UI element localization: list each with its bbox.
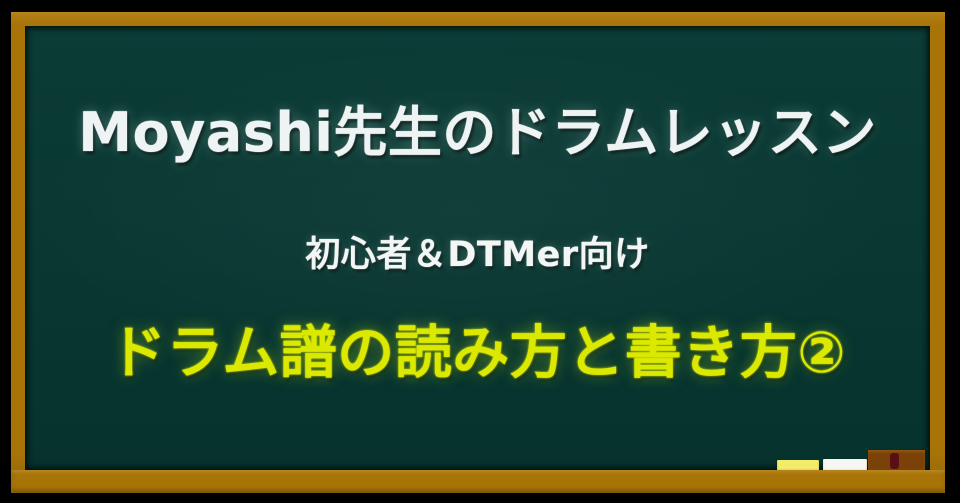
- audience-subtitle: 初心者＆DTMer向け: [25, 234, 930, 276]
- series-title: Moyashi先生のドラムレッスン: [25, 102, 930, 164]
- letterbox-left: [0, 0, 11, 503]
- blackboard-eraser: [868, 450, 925, 472]
- episode-headline: ドラム譜の読み方と書き方②: [25, 320, 930, 386]
- eraser-stripe: [890, 453, 899, 469]
- letterbox-top: [0, 0, 960, 12]
- title-card-stage: Moyashi先生のドラムレッスン 初心者＆DTMer向け ドラム譜の読み方と書…: [0, 0, 960, 503]
- letterbox-bottom: [0, 493, 960, 503]
- chalk-text-layer: Moyashi先生のドラムレッスン 初心者＆DTMer向け ドラム譜の読み方と書…: [25, 26, 930, 470]
- letterbox-right: [945, 0, 960, 503]
- chalk-tray: [11, 470, 945, 493]
